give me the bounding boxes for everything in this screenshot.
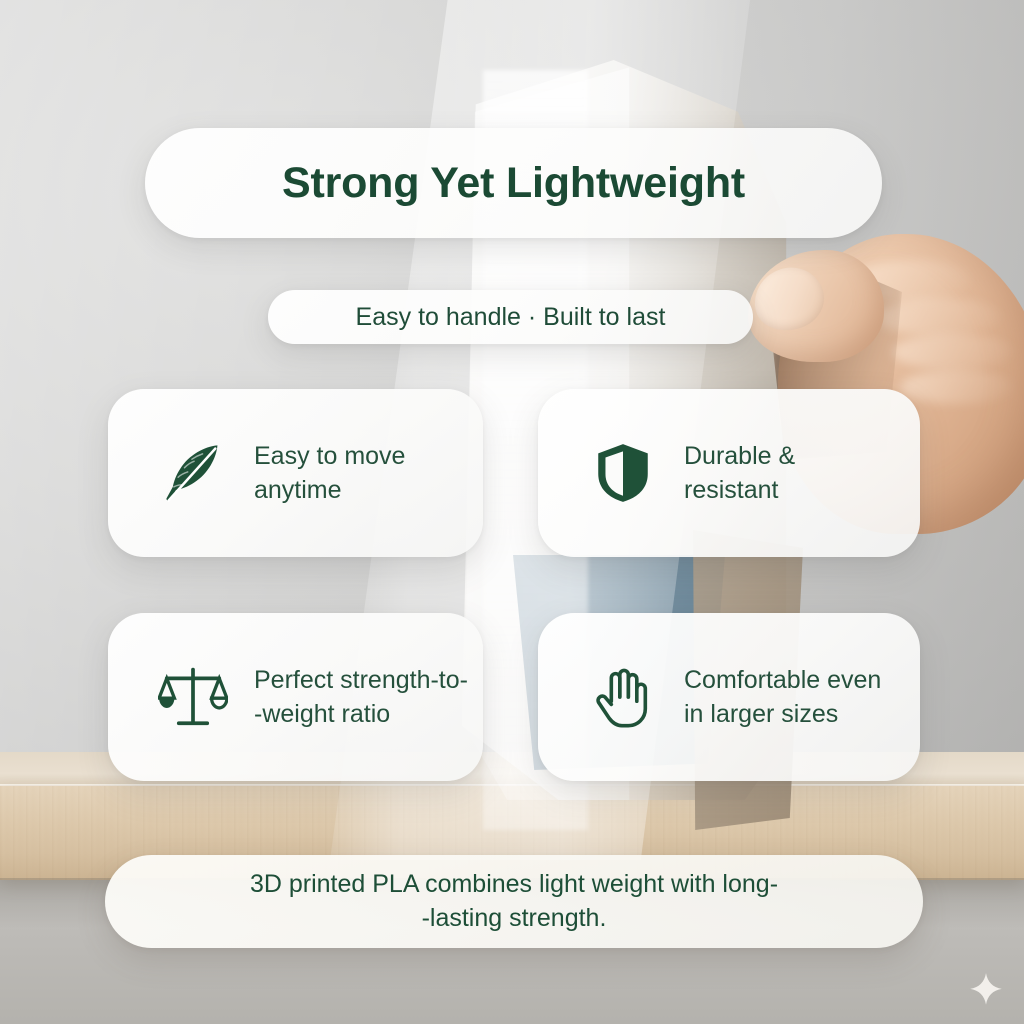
- open-hand-icon: [580, 654, 666, 740]
- shield-icon: [580, 430, 666, 516]
- feature-card-strength-to-weight[interactable]: Perfect strength-to- -weight ratio: [108, 613, 483, 781]
- feather-icon: [150, 430, 236, 516]
- feature-label: Durable & resistant: [684, 439, 795, 508]
- page-title: Strong Yet Lightweight: [282, 159, 745, 208]
- feature-label: Perfect strength-to- -weight ratio: [254, 663, 468, 732]
- footer-text: 3D printed PLA combines light weight wit…: [250, 868, 778, 936]
- footer-card: 3D printed PLA combines light weight wit…: [105, 855, 923, 948]
- subtitle-card: Easy to handle · Built to last: [268, 290, 753, 344]
- balance-scale-icon: [150, 654, 236, 740]
- infographic-stage: Strong Yet Lightweight Easy to handle · …: [0, 0, 1024, 1024]
- feature-card-easy-to-move[interactable]: Easy to move anytime: [108, 389, 483, 557]
- hand-crease-4: [900, 370, 1014, 404]
- feature-card-durable[interactable]: Durable & resistant: [538, 389, 920, 557]
- page-subtitle: Easy to handle · Built to last: [356, 303, 666, 332]
- title-card: Strong Yet Lightweight: [145, 128, 882, 238]
- feature-label: Easy to move anytime: [254, 439, 405, 508]
- feature-label: Comfortable even in larger sizes: [684, 663, 881, 732]
- feature-card-comfortable[interactable]: Comfortable even in larger sizes: [538, 613, 920, 781]
- hand-crease-3: [892, 334, 1014, 370]
